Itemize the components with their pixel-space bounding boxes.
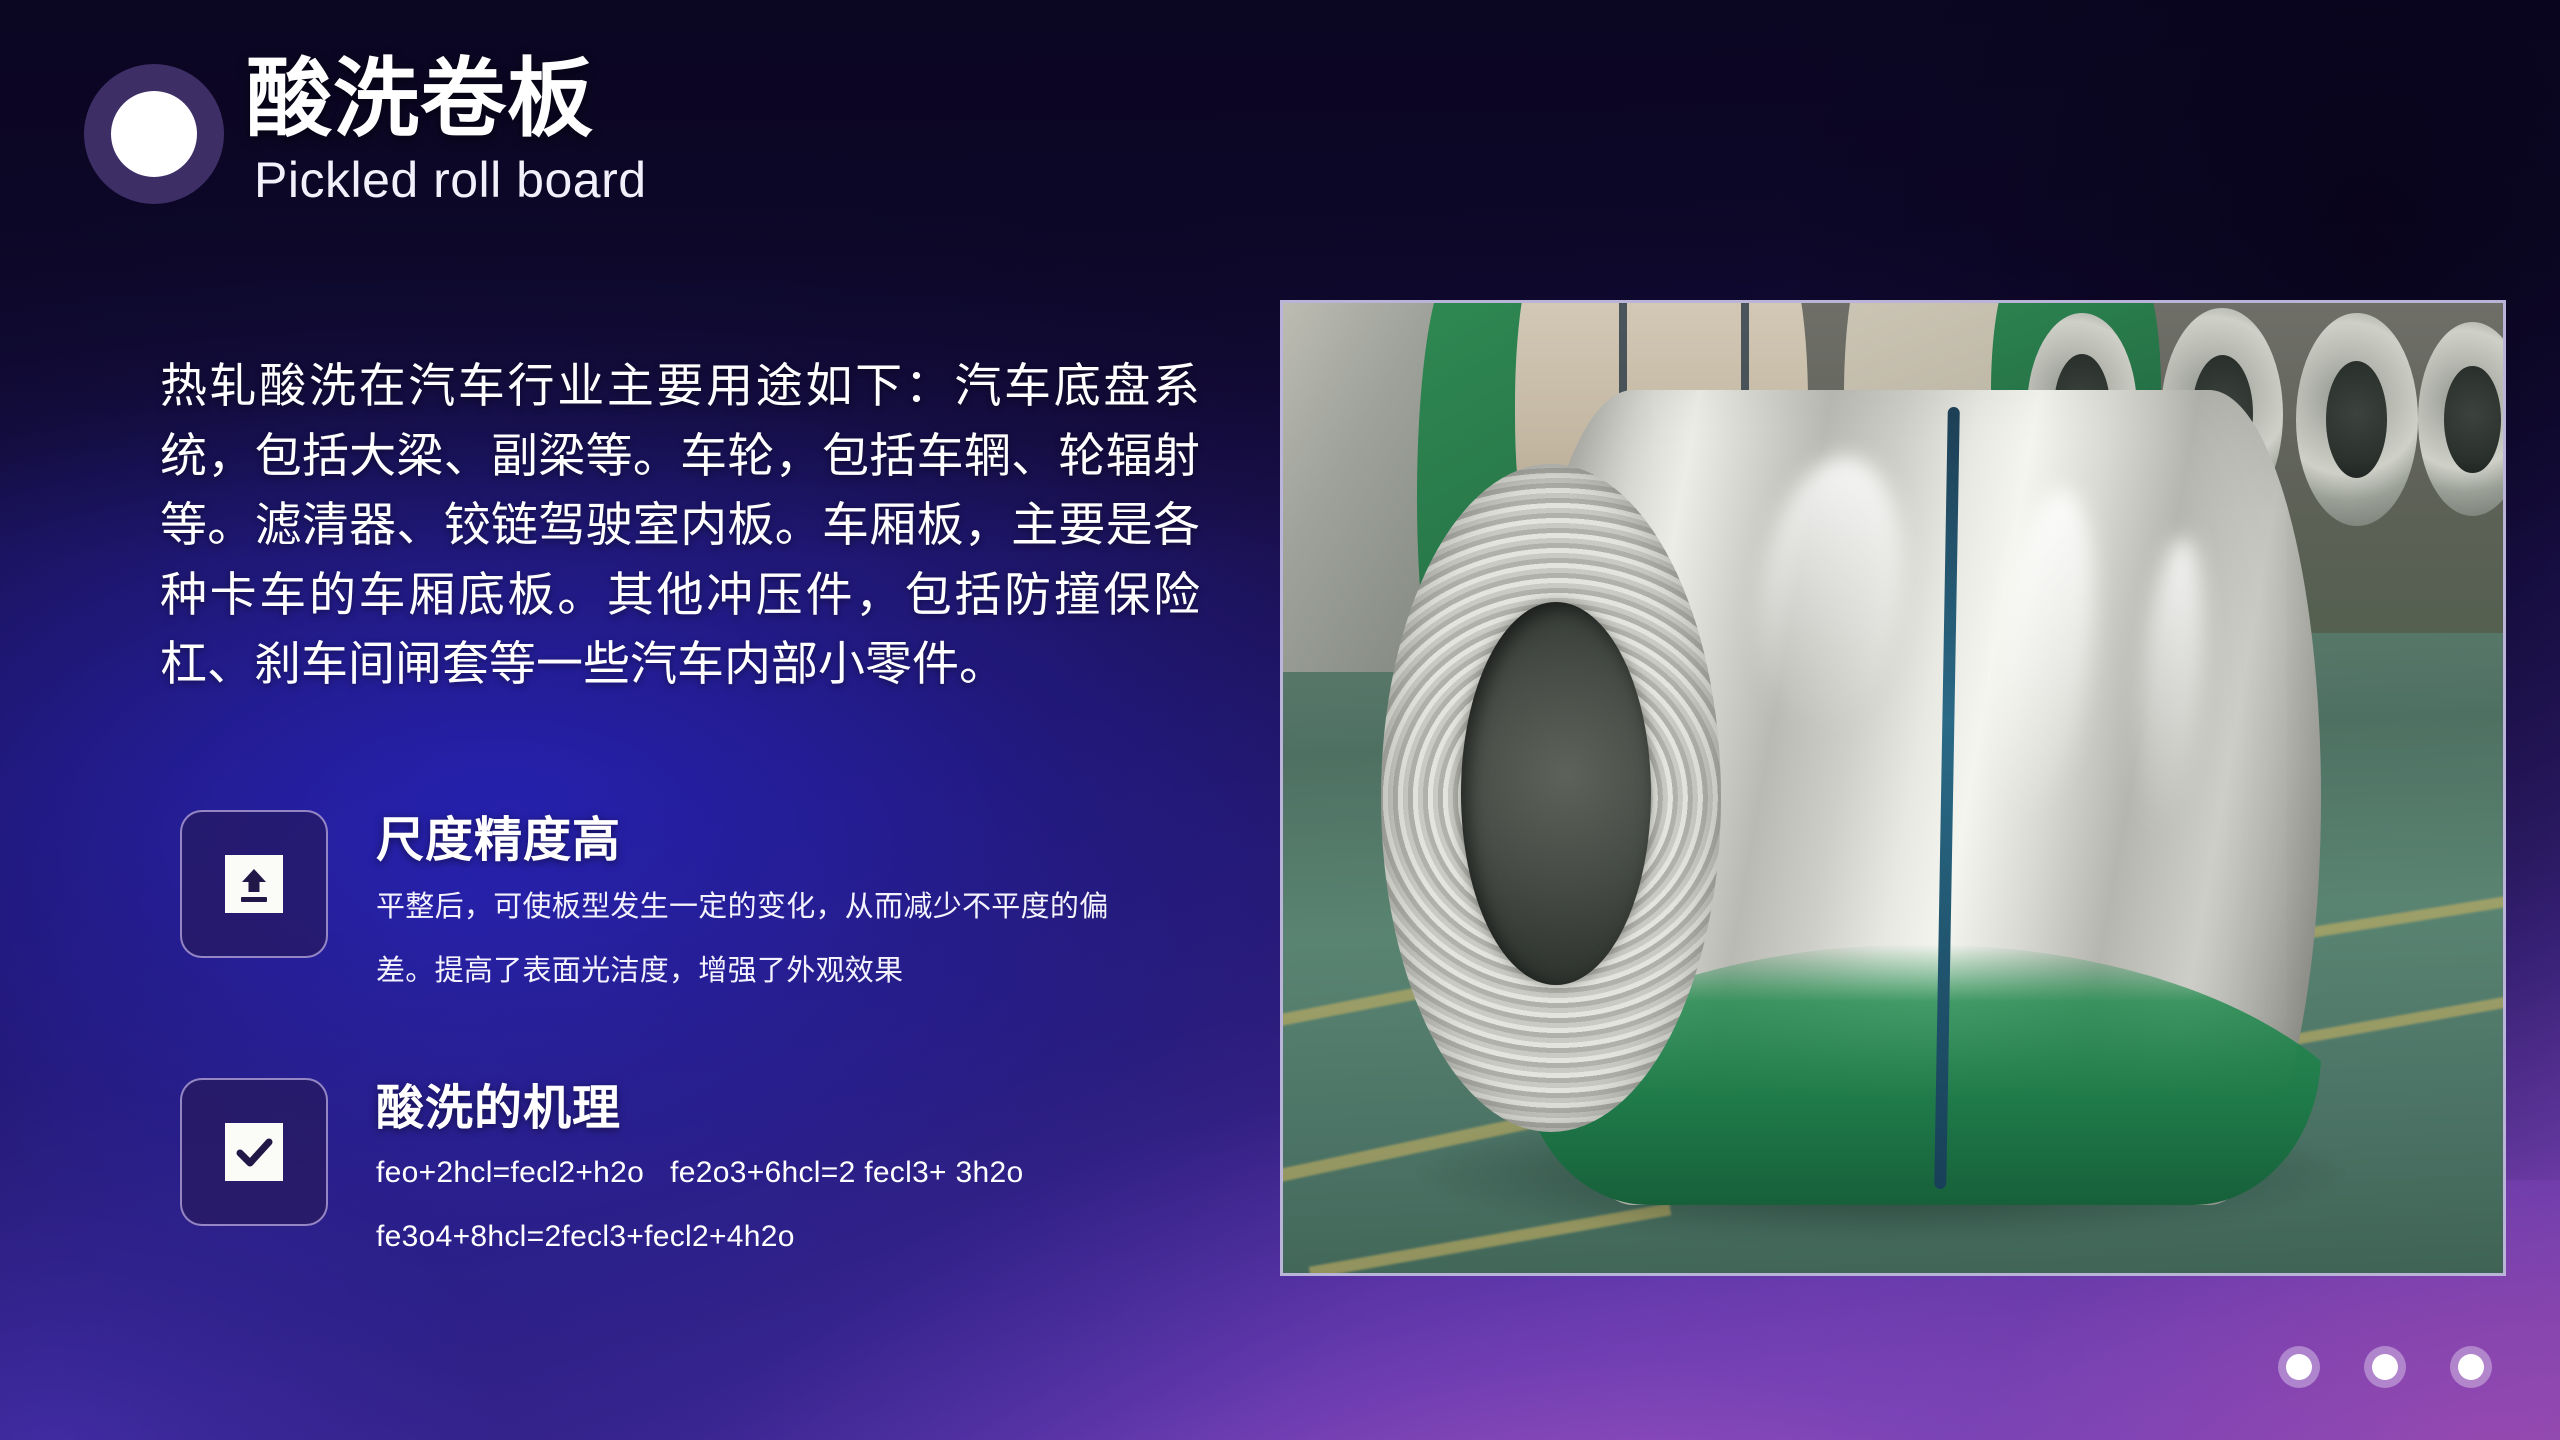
feature-description-line: 差。提高了表面光洁度，增强了外观效果 [376, 949, 1220, 991]
page-title: 酸洗卷板 [246, 54, 647, 143]
pagination-dots[interactable] [2278, 1346, 2492, 1388]
product-photo [1280, 300, 2506, 1276]
pagination-dot-1[interactable] [2278, 1346, 2320, 1388]
photo-inner [1283, 303, 2503, 1273]
feature-text-precision: 尺度精度高 平整后，可使板型发生一定的变化，从而减少不平度的偏 差。提高了表面光… [328, 810, 1220, 991]
chemical-formula-line: fe3o4+8hcl=2fecl3+fecl2+4h2o [376, 1217, 1220, 1258]
pagination-dot-2[interactable] [2364, 1346, 2406, 1388]
title-block: 酸洗卷板 Pickled roll board [246, 54, 647, 208]
logo-inner-dot [111, 91, 197, 177]
feature-heading: 尺度精度高 [376, 814, 1220, 867]
main-steel-coil [1381, 390, 2381, 1205]
page-subtitle: Pickled roll board [254, 153, 647, 208]
chemical-formula-line: feo+2hcl=fecl2+h2ofe2o3+6hcl=2 fecl3+ 3h… [376, 1153, 1220, 1194]
pagination-dot-3[interactable] [2450, 1346, 2492, 1388]
intro-paragraph: 热轧酸洗在汽车行业主要用途如下：汽车底盘系统，包括大梁、副梁等。车轮，包括车辋、… [160, 352, 1200, 700]
check-icon [180, 1078, 328, 1226]
formula-right: fe2o3+6hcl=2 fecl3+ 3h2o [670, 1156, 1023, 1189]
background-coil-hole [2444, 366, 2500, 473]
formula-left: feo+2hcl=fecl2+h2o [376, 1156, 644, 1189]
coil-center-hole [1461, 602, 1651, 985]
feature-item-precision: 尺度精度高 平整后，可使板型发生一定的变化，从而减少不平度的偏 差。提高了表面光… [180, 810, 1220, 991]
feature-text-mechanism: 酸洗的机理 feo+2hcl=fecl2+h2ofe2o3+6hcl=2 fec… [328, 1078, 1220, 1258]
slide-root: 酸洗卷板 Pickled roll board 热轧酸洗在汽车行业主要用途如下：… [0, 0, 2560, 1440]
upload-icon [180, 810, 328, 958]
circle-logo-icon [84, 64, 224, 204]
feature-description-line: 平整后，可使板型发生一定的变化，从而减少不平度的偏 [376, 885, 1220, 927]
feature-item-mechanism: 酸洗的机理 feo+2hcl=fecl2+h2ofe2o3+6hcl=2 fec… [180, 1078, 1220, 1258]
feature-heading: 酸洗的机理 [376, 1082, 1220, 1135]
slide-header: 酸洗卷板 Pickled roll board [84, 54, 1204, 254]
formula-left: fe3o4+8hcl=2fecl3+fecl2+4h2o [376, 1220, 795, 1253]
